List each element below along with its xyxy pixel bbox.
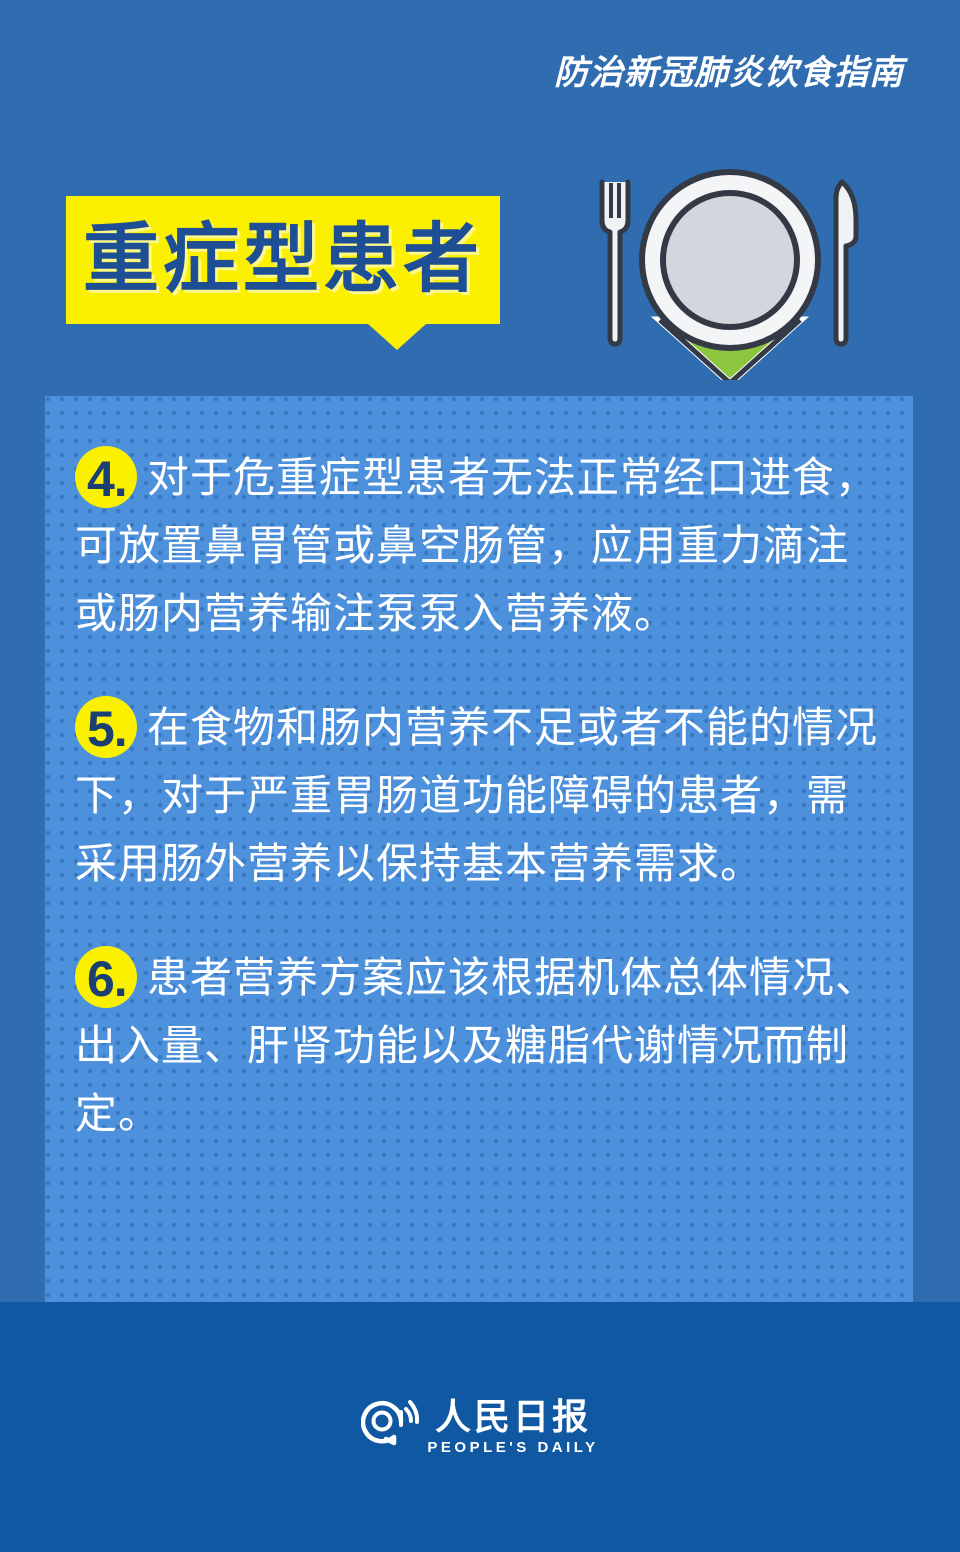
item-number-label: 5. — [87, 700, 127, 758]
banner-body: 重症型患者 — [66, 196, 500, 324]
fork-icon — [602, 182, 628, 344]
section-title-text: 重症型患者 — [83, 222, 483, 298]
knife-icon — [836, 182, 856, 344]
item-number-label: 6. — [87, 950, 127, 1008]
item-body-text: 在食物和肠内营养不足或者不能的情况下，对于严重胃肠道功能障碍的患者，需采用肠外营… — [75, 694, 887, 898]
logo-chinese-text: 人民日报 — [435, 1397, 591, 1437]
plate-icon — [642, 172, 818, 348]
plate-fork-knife-icon — [580, 168, 880, 380]
item-body-text: 患者营养方案应该根据机体总体情况、出入量、肝肾功能以及糖脂代谢情况而制定。 — [75, 944, 887, 1148]
peoples-daily-logo: 人民日报 PEOPLE'S DAILY — [0, 1395, 960, 1457]
list-item: 4. 对于危重症型患者无法正常经口进食，可放置鼻胃管或鼻空肠管，应用重力滴注或肠… — [75, 444, 887, 648]
item-number-label: 4. — [87, 450, 127, 508]
poster-root: 防治新冠肺炎饮食指南 重症型患者 — [0, 0, 960, 1552]
list-item: 6. 患者营养方案应该根据机体总体情况、出入量、肝肾功能以及糖脂代谢情况而制定。 — [75, 944, 887, 1148]
banner-tail-triangle — [368, 324, 426, 350]
content-panel: 4. 对于危重症型患者无法正常经口进食，可放置鼻胃管或鼻空肠管，应用重力滴注或肠… — [45, 396, 913, 1302]
list-item: 5. 在食物和肠内营养不足或者不能的情况下，对于严重胃肠道功能障碍的患者，需采用… — [75, 694, 887, 898]
at-speech-bubble-icon — [361, 1395, 419, 1457]
section-title-banner: 重症型患者 — [66, 196, 500, 324]
header-title: 防治新冠肺炎饮食指南 — [554, 56, 904, 90]
numbered-list: 4. 对于危重症型患者无法正常经口进食，可放置鼻胃管或鼻空肠管，应用重力滴注或肠… — [75, 444, 887, 1148]
header: 防治新冠肺炎饮食指南 — [554, 56, 904, 90]
item-body-text: 对于危重症型患者无法正常经口进食，可放置鼻胃管或鼻空肠管，应用重力滴注或肠内营养… — [75, 444, 887, 648]
logo-english-text: PEOPLE'S DAILY — [427, 1439, 598, 1457]
